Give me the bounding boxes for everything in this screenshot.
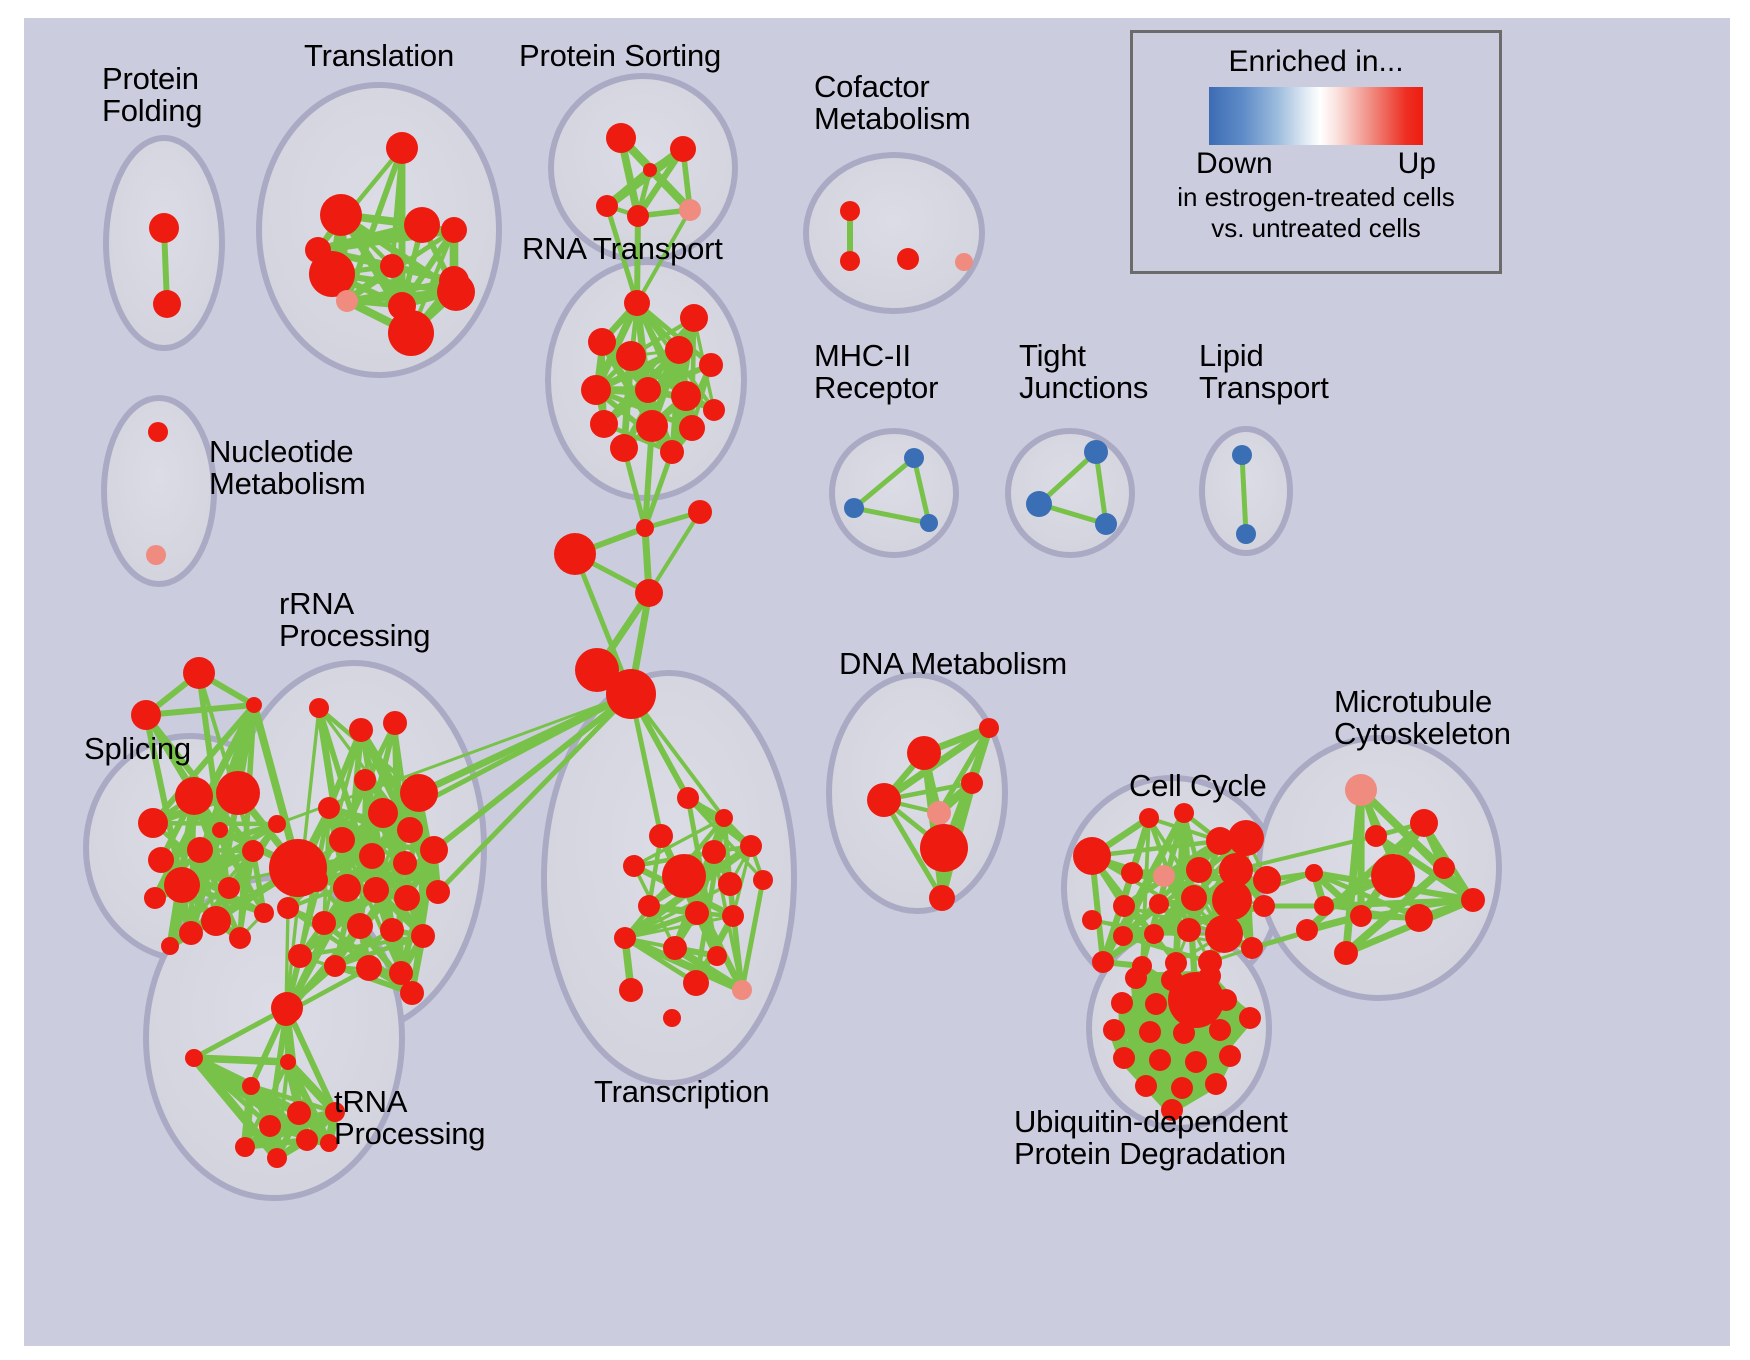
network-node[interactable] [732,980,752,1000]
network-node[interactable] [356,955,382,981]
network-node[interactable] [680,304,708,332]
legend-title: Enriched in... [1228,45,1403,79]
network-node[interactable] [1241,937,1263,959]
network-node[interactable] [153,290,181,318]
network-node[interactable] [636,410,668,442]
network-node[interactable] [904,448,924,468]
network-node[interactable] [400,981,424,1005]
network-node[interactable] [1111,992,1133,1014]
network-node[interactable] [627,205,649,227]
cluster-label-rrna-processing: rRNA Processing [279,588,430,652]
network-node[interactable] [1205,1073,1227,1095]
network-node[interactable] [336,290,358,312]
network-node[interactable] [380,254,404,278]
network-node[interactable] [1135,1075,1157,1097]
network-node[interactable] [703,399,725,421]
network-node[interactable] [635,579,663,607]
network-node[interactable] [1113,926,1133,946]
network-node[interactable] [1314,896,1334,916]
network-node[interactable] [1153,865,1175,887]
network-node[interactable] [707,946,727,966]
network-node[interactable] [636,519,654,537]
network-canvas: Protein FoldingTranslationProtein Sortin… [24,18,1730,1346]
network-node[interactable] [929,885,955,911]
network-node[interactable] [920,514,938,532]
network-node[interactable] [268,815,286,833]
network-node[interactable] [1296,919,1318,941]
network-node[interactable] [677,787,699,809]
network-node[interactable] [354,769,376,791]
cluster-label-cell-cycle: Cell Cycle [1129,770,1267,802]
legend-down-label: Down [1196,147,1273,181]
network-node[interactable] [1177,918,1201,942]
network-node[interactable] [161,937,179,955]
cluster-label-nucleotide-metabolism: Nucleotide Metabolism [209,436,366,500]
network-node[interactable] [1236,524,1256,544]
legend-color-bar [1209,87,1423,145]
network-node[interactable] [685,901,709,925]
cluster-label-splicing: Splicing [84,733,191,765]
network-node[interactable] [1350,905,1372,927]
network-node[interactable] [146,545,166,565]
network-node[interactable] [441,217,467,243]
network-node[interactable] [671,381,701,411]
network-node[interactable] [179,921,203,945]
blob-mhc-ii [832,431,956,555]
network-node[interactable] [590,410,618,438]
network-node[interactable] [148,847,174,873]
network-node[interactable] [1186,857,1212,883]
network-node[interactable] [411,924,435,948]
network-node[interactable] [1144,924,1164,944]
network-node[interactable] [1410,809,1438,837]
network-node[interactable] [683,970,709,996]
network-node[interactable] [1365,825,1387,847]
network-node[interactable] [187,837,213,863]
network-node[interactable] [1371,854,1415,898]
legend-up-label: Up [1398,147,1436,181]
cluster-label-transcription: Transcription [594,1076,769,1108]
network-node[interactable] [1205,915,1243,953]
network-node[interactable] [740,835,762,857]
network-node[interactable] [400,774,438,812]
cluster-label-rna-transport: RNA Transport [522,233,723,265]
network-node[interactable] [1253,866,1281,894]
network-node[interactable] [907,736,941,770]
network-node[interactable] [679,199,701,221]
network-node[interactable] [1082,910,1102,930]
network-node[interactable] [404,207,440,243]
network-node[interactable] [324,955,346,977]
network-node[interactable] [269,839,327,897]
network-node[interactable] [144,887,166,909]
network-node[interactable] [1121,862,1143,884]
network-node[interactable] [1212,880,1252,920]
cluster-label-lipid-transport: Lipid Transport [1199,340,1329,404]
network-node[interactable] [699,353,723,377]
network-node[interactable] [397,817,423,843]
network-node[interactable] [1103,1019,1125,1041]
network-node[interactable] [259,1115,281,1137]
network-node[interactable] [1171,1077,1193,1099]
network-node[interactable] [254,903,274,923]
network-node[interactable] [614,927,636,949]
network-node[interactable] [175,777,213,815]
network-node[interactable] [688,500,712,524]
network-node[interactable] [660,440,684,464]
network-node[interactable] [1149,1049,1171,1071]
network-node[interactable] [347,913,373,939]
network-node[interactable] [1181,995,1203,1017]
network-node[interactable] [394,885,420,911]
network-node[interactable] [138,808,168,838]
cluster-label-cofactor-metabolism: Cofactor Metabolism [814,71,971,135]
network-node[interactable] [235,1137,255,1157]
network-node[interactable] [1084,440,1108,464]
network-node[interactable] [201,906,231,936]
cluster-label-translation: Translation [304,40,454,72]
network-node[interactable] [679,415,705,441]
network-node[interactable] [1173,1022,1195,1044]
network-node[interactable] [616,341,646,371]
network-node[interactable] [662,854,706,898]
network-node[interactable] [349,718,373,742]
network-node[interactable] [753,870,773,890]
network-node[interactable] [867,783,901,817]
network-node[interactable] [955,253,973,271]
network-node[interactable] [271,992,303,1024]
network-node[interactable] [1185,1051,1207,1073]
network-node[interactable] [588,328,616,356]
network-node[interactable] [1461,888,1485,912]
network-node[interactable] [218,877,240,899]
legend-caption-line2: vs. untreated cells [1211,214,1421,243]
network-node[interactable] [927,801,951,825]
network-node[interactable] [840,201,860,221]
network-node[interactable] [131,700,161,730]
blob-tight-junctions [1008,431,1132,555]
network-node[interactable] [318,797,340,819]
cluster-label-microtubule-cytoskeleton: Microtubule Cytoskeleton [1334,686,1511,750]
network-node[interactable] [1095,513,1117,535]
network-node[interactable] [606,669,656,719]
network-node[interactable] [1145,993,1167,1015]
network-node[interactable] [242,1077,260,1095]
network-node[interactable] [718,872,742,896]
network-node[interactable] [393,851,417,875]
network-node[interactable] [1345,774,1377,806]
network-node[interactable] [1125,967,1147,989]
cluster-label-mhc-ii-receptor: MHC-II Receptor [814,340,938,404]
network-node[interactable] [216,771,260,815]
network-node[interactable] [844,498,864,518]
cluster-label-protein-sorting: Protein Sorting [519,40,721,72]
blob-cofactor-metabolism [806,155,982,311]
network-node[interactable] [1199,965,1221,987]
network-node[interactable] [623,855,645,877]
network-node[interactable] [635,377,661,403]
network-node[interactable] [148,422,168,442]
network-node[interactable] [212,822,228,838]
network-node[interactable] [649,824,673,848]
network-node[interactable] [437,273,475,311]
legend-box: Enriched in... Down Up in estrogen-treat… [1130,30,1502,274]
network-node[interactable] [606,123,636,153]
cluster-label-ubiquitin-degradation: Ubiquitin-dependent Protein Degradation [1014,1106,1288,1170]
network-node[interactable] [665,336,693,364]
network-node[interactable] [624,290,650,316]
network-node[interactable] [1026,491,1052,517]
network-node[interactable] [426,880,450,904]
network-node[interactable] [619,978,643,1002]
network-node[interactable] [320,194,362,236]
network-node[interactable] [420,836,448,864]
network-node[interactable] [638,895,660,917]
network-node[interactable] [1232,445,1252,465]
network-node[interactable] [1092,951,1114,973]
network-node[interactable] [149,213,179,243]
cluster-label-protein-folding: Protein Folding [102,63,202,127]
network-node[interactable] [979,718,999,738]
network-node[interactable] [246,697,262,713]
network-node[interactable] [312,911,336,935]
cluster-label-tight-junctions: Tight Junctions [1019,340,1148,404]
network-node[interactable] [383,711,407,735]
network-node[interactable] [1174,803,1194,823]
figure-root: Protein FoldingTranslationProtein Sortin… [0,0,1750,1360]
network-node[interactable] [1139,1021,1161,1043]
network-node[interactable] [663,936,687,960]
network-node[interactable] [1305,864,1323,882]
network-node[interactable] [722,905,744,927]
network-node[interactable] [164,867,200,903]
network-node[interactable] [1334,941,1358,965]
network-node[interactable] [287,1101,311,1125]
network-node[interactable] [229,927,251,949]
network-edge [146,705,254,715]
network-node[interactable] [1253,895,1275,917]
network-node[interactable] [920,824,968,872]
network-node[interactable] [1161,969,1183,991]
network-node[interactable] [1073,837,1111,875]
network-node[interactable] [1209,1019,1231,1041]
network-node[interactable] [1149,894,1169,914]
network-node[interactable] [1405,904,1433,932]
network-node[interactable] [1433,857,1455,879]
network-node[interactable] [309,698,329,718]
network-node[interactable] [185,1049,203,1067]
network-node[interactable] [1113,1047,1135,1069]
network-node[interactable] [329,827,355,853]
network-node[interactable] [715,809,733,827]
network-node[interactable] [596,195,618,217]
network-node[interactable] [386,132,418,164]
network-node[interactable] [388,310,434,356]
network-node[interactable] [242,840,264,862]
network-node[interactable] [643,163,657,177]
network-node[interactable] [1181,885,1207,911]
network-node[interactable] [1139,808,1159,828]
network-node[interactable] [1219,1045,1241,1067]
network-node[interactable] [305,237,331,263]
network-node[interactable] [363,877,389,903]
network-node[interactable] [670,136,696,162]
network-node[interactable] [183,657,215,689]
network-node[interactable] [380,918,404,942]
network-node[interactable] [702,840,726,864]
network-node[interactable] [288,944,312,968]
network-node[interactable] [840,251,860,271]
network-node[interactable] [961,772,983,794]
network-node[interactable] [333,874,361,902]
network-node[interactable] [277,897,299,919]
cluster-label-trna-processing: tRNA Processing [334,1086,485,1150]
legend-caption-line1: in estrogen-treated cells [1177,183,1454,212]
network-node[interactable] [359,843,385,869]
network-node[interactable] [663,1009,681,1027]
network-node[interactable] [1215,989,1237,1011]
network-node[interactable] [296,1129,318,1151]
network-node[interactable] [1239,1007,1261,1029]
network-node[interactable] [280,1054,296,1070]
network-node[interactable] [368,798,398,828]
network-node[interactable] [267,1148,287,1168]
network-node[interactable] [581,375,611,405]
network-node[interactable] [610,434,638,462]
network-node[interactable] [1228,820,1264,856]
cluster-label-dna-metabolism: DNA Metabolism [839,648,1067,680]
network-node[interactable] [1113,895,1135,917]
network-node[interactable] [554,533,596,575]
network-node[interactable] [897,248,919,270]
